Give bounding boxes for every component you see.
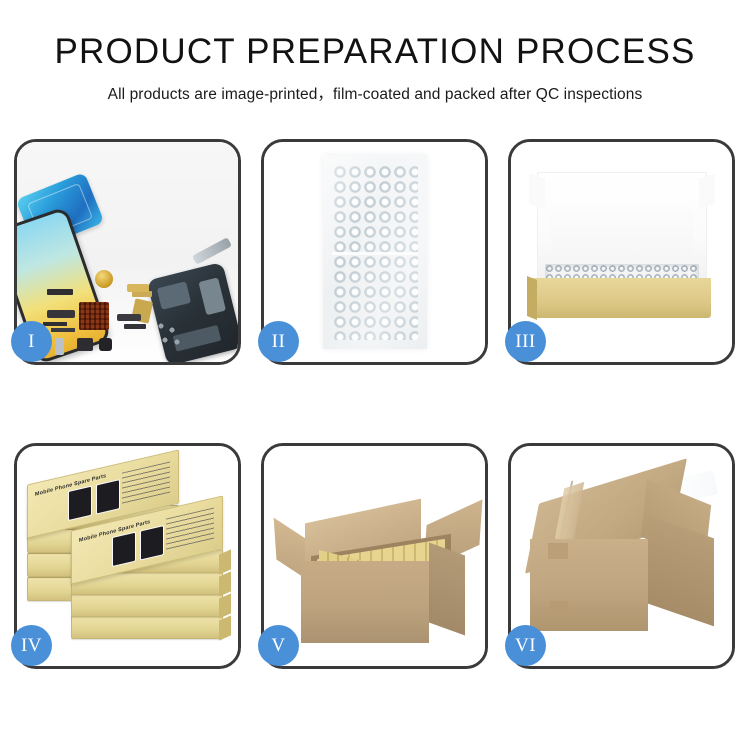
screws-icon bbox=[157, 322, 183, 348]
step-badge-6: VI bbox=[505, 625, 546, 666]
sealed-carton-icon bbox=[511, 446, 732, 666]
taptic-engine-icon bbox=[95, 270, 113, 288]
process-step-4: Mobile Phone Spare Parts Mobile Phone Sp… bbox=[14, 443, 241, 669]
loudspeaker-icon bbox=[77, 338, 93, 351]
inner-box-icon bbox=[511, 142, 732, 362]
bubble-wrap-icon bbox=[264, 142, 485, 362]
process-step-1: I bbox=[14, 139, 241, 365]
step-badge-1: I bbox=[11, 321, 52, 362]
process-step-6: VI bbox=[508, 443, 735, 669]
process-step-grid: I II III bbox=[14, 139, 736, 669]
step-badge-2: II bbox=[258, 321, 299, 362]
step-badge-4: IV bbox=[11, 625, 52, 666]
page-subtitle: All products are image-printed，film-coat… bbox=[0, 82, 750, 104]
process-step-3: III bbox=[508, 139, 735, 365]
page-title: PRODUCT PREPARATION PROCESS bbox=[0, 34, 750, 69]
product-preparation-infographic: PRODUCT PREPARATION PROCESS All products… bbox=[0, 0, 750, 750]
ribbon-cable-icon bbox=[117, 314, 141, 321]
step-badge-5: V bbox=[258, 625, 299, 666]
process-step-5: V bbox=[261, 443, 488, 669]
side-button-icon bbox=[55, 338, 64, 355]
earpiece-speaker-icon bbox=[47, 289, 73, 295]
phone-parts-icon bbox=[17, 142, 238, 362]
copper-shield-icon bbox=[79, 302, 109, 330]
camera-module-icon bbox=[99, 338, 112, 351]
process-step-2: II bbox=[261, 139, 488, 365]
header: PRODUCT PREPARATION PROCESS All products… bbox=[0, 0, 750, 104]
flex-cable-icon bbox=[127, 284, 149, 292]
step-badge-3: III bbox=[505, 321, 546, 362]
stacked-boxes-icon: Mobile Phone Spare Parts Mobile Phone Sp… bbox=[17, 446, 238, 666]
open-carton-icon bbox=[264, 446, 485, 666]
ribbon-cable-icon bbox=[47, 310, 75, 318]
